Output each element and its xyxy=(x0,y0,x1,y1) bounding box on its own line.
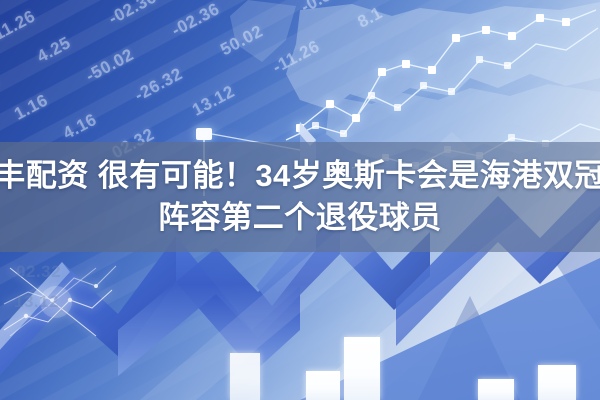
headline: 贵丰配资 很有可能！34岁奥斯卡会是海港双冠王 阵容第二个退役球员 xyxy=(0,142,600,252)
headline-line-2: 阵容第二个退役球员 xyxy=(158,199,442,237)
headline-line-1: 贵丰配资 很有可能！34岁奥斯卡会是海港双冠王 xyxy=(0,157,600,195)
article-cover-image: -0.02-02.36-11.2645.0221.362.26-11.26+5.… xyxy=(0,0,600,400)
